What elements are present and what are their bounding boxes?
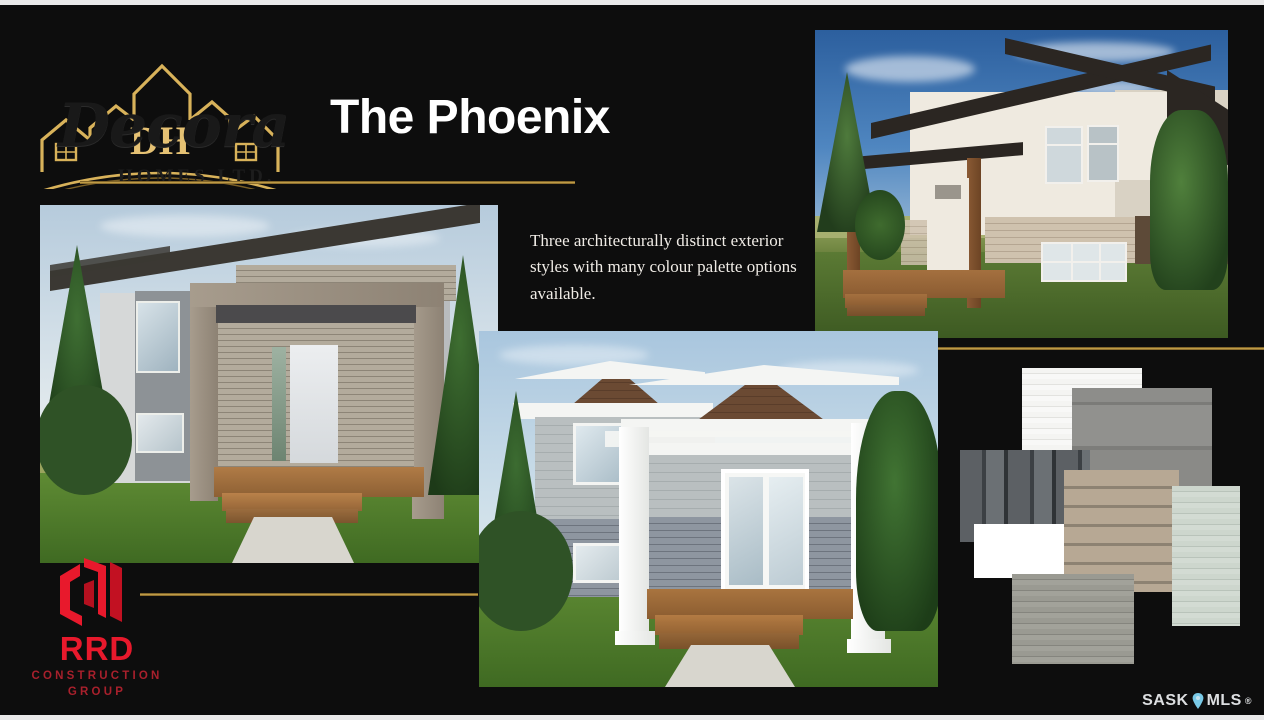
mls-text-left: SASK <box>1142 692 1188 710</box>
rrd-subtitle-line1: CONSTRUCTION <box>22 670 172 682</box>
rrd-title: RRD <box>22 632 172 665</box>
map-pin-icon <box>1192 693 1204 709</box>
slide-top-edge <box>0 0 1264 5</box>
swatch-sage-siding <box>1172 486 1240 626</box>
rendering-craftsman-gable <box>479 331 938 687</box>
presentation-slide: DH Decora HOMES LTD. The Phoenix Three a… <box>0 0 1264 720</box>
sask-mls-watermark: SASK MLS ® <box>1142 692 1252 710</box>
swatch-grey-woodgrain-siding <box>1012 574 1134 664</box>
gold-divider-right <box>936 347 1264 350</box>
registered-mark: ® <box>1245 696 1252 706</box>
logo-tagline: HOMES LTD. <box>118 166 276 188</box>
rrd-subtitle-line2: GROUP <box>22 686 172 698</box>
rrd-building-icon <box>54 556 140 630</box>
page-title: The Phoenix <box>330 90 610 145</box>
rendering-two-storey-board-and-batten <box>815 30 1228 338</box>
gold-divider-under-logo <box>80 181 575 184</box>
logo-script-name: Decora <box>58 96 308 156</box>
swatch-white-trim <box>974 524 1064 578</box>
slide-bottom-edge <box>0 715 1264 720</box>
mls-text-right: MLS <box>1207 692 1242 710</box>
exterior-material-swatches <box>960 368 1240 668</box>
gold-divider-lower-left <box>140 593 478 596</box>
rendering-modern-flat-roof <box>40 205 498 563</box>
description-text: Three architecturally distinct exterior … <box>530 228 805 307</box>
rrd-construction-group-logo: RRD CONSTRUCTION GROUP <box>22 556 172 704</box>
decora-homes-logo: DH Decora HOMES LTD. <box>30 24 290 184</box>
